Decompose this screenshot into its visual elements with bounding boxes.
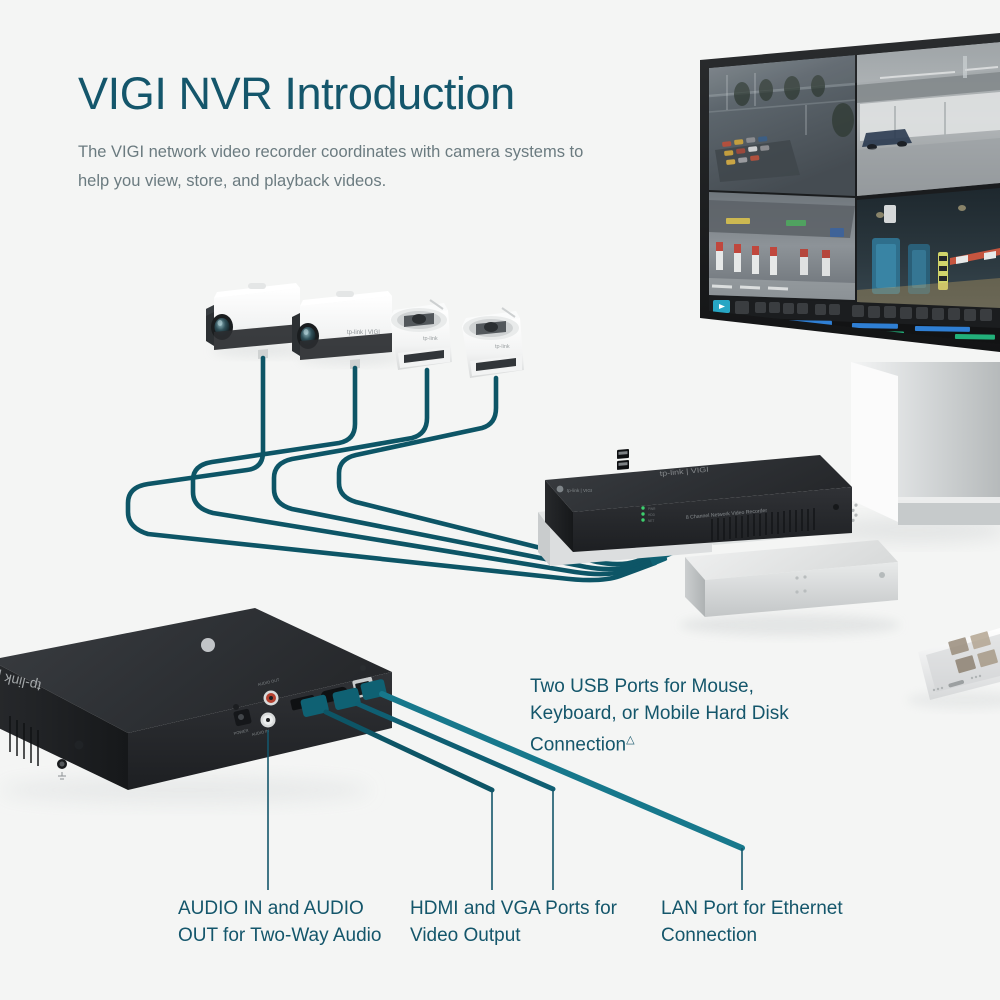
monitor-quadrant-4 [857, 188, 1000, 322]
camera-brand-label: tp-link | VIGI [347, 330, 380, 336]
audio-out-port[interactable] [264, 691, 279, 706]
camera-group: tp-link | VIGI tp-link [206, 283, 524, 378]
status-leds: PWRHDDNET [641, 506, 656, 523]
smartphone [907, 628, 1000, 709]
scene-illustration: tp-link | VIGI tp-link [0, 0, 1000, 1000]
audio-in-port[interactable] [261, 713, 276, 728]
svg-text:NET: NET [648, 519, 654, 523]
camera-brand-label: tp-link [423, 336, 438, 342]
ground-port[interactable] [57, 759, 67, 779]
usb-ports[interactable] [617, 449, 629, 470]
camera-turret-2: tp-link [462, 308, 524, 378]
callout-audio-label: AUDIO IN and AUDIO OUT for Two-Way Audio [178, 895, 388, 949]
monitor-screen [700, 30, 1000, 360]
svg-text:PWR: PWR [648, 507, 656, 511]
callout-usb-label: Two USB Ports for Mouse, Keyboard, or Mo… [530, 646, 830, 758]
svg-text:tp-link | VIGI: tp-link | VIGI [567, 488, 592, 493]
infographic-stage: VIGI NVR Introduction The VIGI network v… [0, 0, 1000, 1000]
callout-usb-text: Two USB Ports for Mouse, Keyboard, or Mo… [530, 676, 789, 755]
nvr-rear: tp-link | VIGI [0, 608, 392, 804]
camera-turret-1: tp-link [390, 300, 452, 370]
camera-brand-label: tp-link [495, 344, 510, 350]
monitor-stand [851, 362, 1000, 525]
svg-text:HDD: HDD [648, 513, 656, 517]
monitor-quadrant-3 [709, 192, 855, 300]
callout-hdmi-label: HDMI and VGA Ports for Video Output [410, 895, 645, 949]
callout-lan-label: LAN Port for Ethernet Connection [661, 895, 911, 949]
footnote-marker: △ [626, 734, 634, 746]
